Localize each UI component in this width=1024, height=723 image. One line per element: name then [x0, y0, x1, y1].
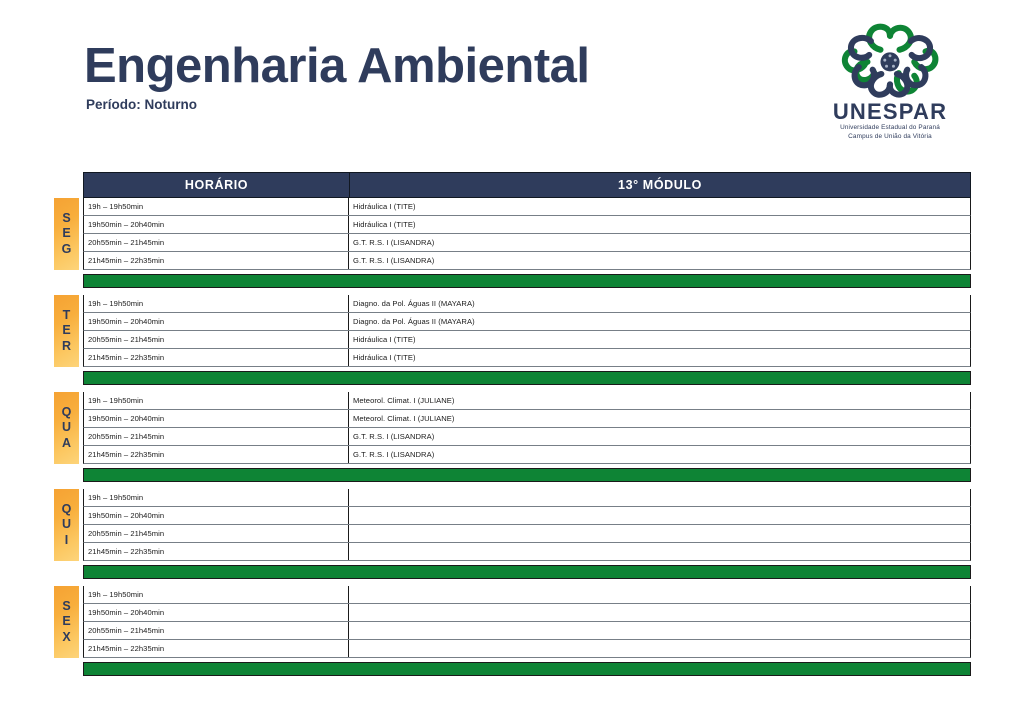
day-group-sex: SEX19h – 19h50min19h50min – 20h40min20h5… — [83, 586, 971, 676]
cell-subject: G.T. R.S. I (LISANDRA) — [349, 234, 970, 251]
day-label-sex: SEX — [54, 586, 79, 658]
day-separator-bar — [83, 565, 971, 579]
cell-time: 21h45min – 22h35min — [84, 543, 349, 560]
title-block: Engenharia Ambiental Período: Noturno — [84, 42, 590, 112]
logo-subtitle-university: Universidade Estadual do Paraná — [820, 124, 960, 133]
cell-time: 19h50min – 20h40min — [84, 507, 349, 524]
cell-time: 21h45min – 22h35min — [84, 446, 349, 463]
cell-subject — [349, 507, 970, 524]
table-header-row: HORÁRIO 13° MÓDULO — [83, 172, 971, 198]
column-header-modulo: 13° MÓDULO — [350, 173, 970, 197]
day-letter: U — [62, 420, 71, 435]
cell-subject — [349, 640, 970, 657]
cell-time: 19h – 19h50min — [84, 586, 349, 603]
group-gap — [83, 288, 971, 295]
table-row[interactable]: 19h50min – 20h40min — [83, 507, 971, 525]
day-separator-bar — [83, 371, 971, 385]
day-letter: T — [63, 308, 71, 323]
table-row[interactable]: 20h55min – 21h45minHidráulica I (TITE) — [83, 331, 971, 349]
day-group-qua: QUA19h – 19h50minMeteorol. Climat. I (JU… — [83, 392, 971, 482]
cell-subject: Meteorol. Climat. I (JULIANE) — [349, 410, 970, 427]
table-row[interactable]: 21h45min – 22h35minHidráulica I (TITE) — [83, 349, 971, 367]
cell-subject — [349, 604, 970, 621]
day-groups-container: SEG19h – 19h50minHidráulica I (TITE)19h5… — [83, 198, 971, 676]
cell-time: 20h55min – 21h45min — [84, 331, 349, 348]
cell-time: 19h50min – 20h40min — [84, 410, 349, 427]
cell-time: 19h50min – 20h40min — [84, 216, 349, 233]
table-row[interactable]: 21h45min – 22h35minG.T. R.S. I (LISANDRA… — [83, 446, 971, 464]
cell-time: 19h – 19h50min — [84, 198, 349, 215]
day-letter: E — [62, 323, 70, 338]
day-letter: I — [65, 533, 68, 548]
cell-subject: Hidráulica I (TITE) — [349, 331, 970, 348]
cell-time: 19h – 19h50min — [84, 489, 349, 506]
table-row[interactable]: 20h55min – 21h45minG.T. R.S. I (LISANDRA… — [83, 428, 971, 446]
table-row[interactable]: 21h45min – 22h35minG.T. R.S. I (LISANDRA… — [83, 252, 971, 270]
cell-subject: Meteorol. Climat. I (JULIANE) — [349, 392, 970, 409]
day-letter: Q — [62, 405, 72, 420]
table-row[interactable]: 20h55min – 21h45min — [83, 622, 971, 640]
table-row[interactable]: 20h55min – 21h45min — [83, 525, 971, 543]
page-subtitle: Período: Noturno — [86, 97, 590, 112]
table-row[interactable]: 19h – 19h50minHidráulica I (TITE) — [83, 198, 971, 216]
day-letter: S — [62, 599, 70, 614]
table-row[interactable]: 19h50min – 20h40minDiagno. da Pol. Águas… — [83, 313, 971, 331]
cell-subject: Diagno. da Pol. Águas II (MAYARA) — [349, 295, 970, 312]
cell-time: 19h50min – 20h40min — [84, 604, 349, 621]
day-letter: S — [62, 211, 70, 226]
column-header-horario: HORÁRIO — [84, 173, 350, 197]
day-letter: U — [62, 517, 71, 532]
cell-subject — [349, 586, 970, 603]
cell-time: 20h55min – 21h45min — [84, 428, 349, 445]
day-letter: E — [62, 226, 70, 241]
cell-subject — [349, 622, 970, 639]
cell-time: 19h – 19h50min — [84, 295, 349, 312]
group-gap — [83, 385, 971, 392]
day-letter: E — [62, 614, 70, 629]
table-row[interactable]: 19h50min – 20h40min — [83, 604, 971, 622]
day-group-seg: SEG19h – 19h50minHidráulica I (TITE)19h5… — [83, 198, 971, 288]
cell-time: 21h45min – 22h35min — [84, 640, 349, 657]
cell-subject — [349, 543, 970, 560]
cell-time: 20h55min – 21h45min — [84, 234, 349, 251]
day-label-qua: QUA — [54, 392, 79, 464]
cell-subject: G.T. R.S. I (LISANDRA) — [349, 428, 970, 445]
table-row[interactable]: 21h45min – 22h35min — [83, 543, 971, 561]
table-row[interactable]: 20h55min – 21h45minG.T. R.S. I (LISANDRA… — [83, 234, 971, 252]
cell-time: 20h55min – 21h45min — [84, 622, 349, 639]
logo-wordmark: UNESPAR — [820, 101, 960, 123]
group-gap — [83, 482, 971, 489]
day-label-ter: TER — [54, 295, 79, 367]
day-group-qui: QUI19h – 19h50min19h50min – 20h40min20h5… — [83, 489, 971, 579]
table-row[interactable]: 19h50min – 20h40minMeteorol. Climat. I (… — [83, 410, 971, 428]
table-row[interactable]: 19h50min – 20h40minHidráulica I (TITE) — [83, 216, 971, 234]
day-label-seg: SEG — [54, 198, 79, 270]
cell-subject — [349, 489, 970, 506]
day-separator-bar — [83, 662, 971, 676]
day-letter: Q — [62, 502, 72, 517]
cell-time: 21h45min – 22h35min — [84, 252, 349, 269]
page-header: Engenharia Ambiental Período: Noturno — [0, 0, 1024, 160]
logo-subtitle-campus: Campus de União da Vitória — [820, 133, 960, 142]
table-row[interactable]: 19h – 19h50minDiagno. da Pol. Águas II (… — [83, 295, 971, 313]
table-row[interactable]: 19h – 19h50minMeteorol. Climat. I (JULIA… — [83, 392, 971, 410]
cell-subject: G.T. R.S. I (LISANDRA) — [349, 446, 970, 463]
table-row[interactable]: 21h45min – 22h35min — [83, 640, 971, 658]
group-gap — [83, 579, 971, 586]
schedule-table: HORÁRIO 13° MÓDULO SEG19h – 19h50minHidr… — [83, 172, 971, 676]
cell-subject: Hidráulica I (TITE) — [349, 216, 970, 233]
day-separator-bar — [83, 468, 971, 482]
cell-subject — [349, 525, 970, 542]
day-separator-bar — [83, 274, 971, 288]
cell-subject: G.T. R.S. I (LISANDRA) — [349, 252, 970, 269]
day-letter: X — [62, 630, 70, 645]
day-letter: G — [62, 242, 72, 257]
page-title: Engenharia Ambiental — [84, 42, 590, 91]
table-row[interactable]: 19h – 19h50min — [83, 586, 971, 604]
day-label-qui: QUI — [54, 489, 79, 561]
day-letter: A — [62, 436, 71, 451]
cell-subject: Hidráulica I (TITE) — [349, 349, 970, 366]
cell-time: 20h55min – 21h45min — [84, 525, 349, 542]
day-letter: R — [62, 339, 71, 354]
unespar-logo: UNESPAR Universidade Estadual do Paraná … — [820, 22, 960, 141]
day-group-ter: TER19h – 19h50minDiagno. da Pol. Águas I… — [83, 295, 971, 385]
cell-time: 19h – 19h50min — [84, 392, 349, 409]
cell-time: 21h45min – 22h35min — [84, 349, 349, 366]
cell-subject: Hidráulica I (TITE) — [349, 198, 970, 215]
cell-subject: Diagno. da Pol. Águas II (MAYARA) — [349, 313, 970, 330]
table-row[interactable]: 19h – 19h50min — [83, 489, 971, 507]
unespar-pinwheel-icon — [838, 22, 942, 100]
cell-time: 19h50min – 20h40min — [84, 313, 349, 330]
